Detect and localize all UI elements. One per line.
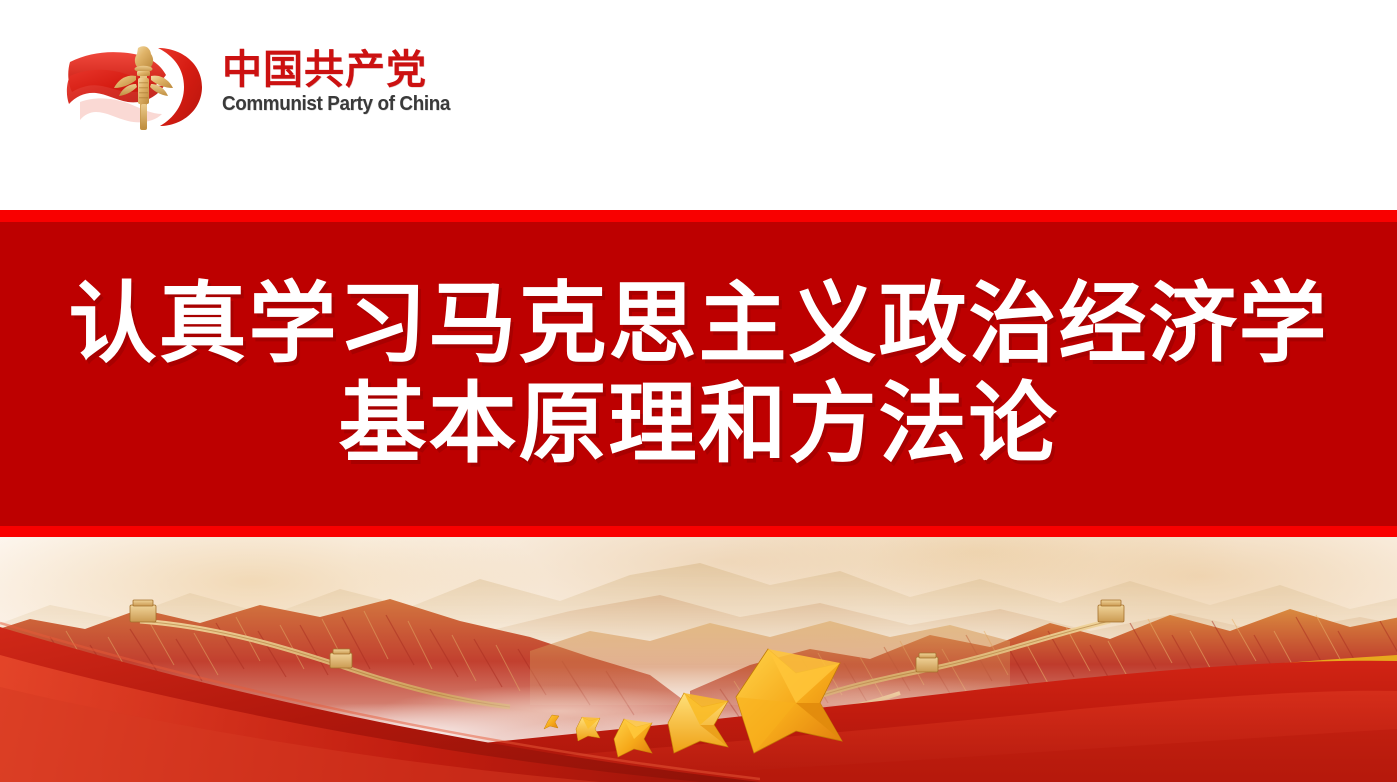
star-1-large: [736, 649, 842, 753]
star-4: [576, 717, 600, 741]
star-2: [668, 693, 728, 753]
presentation-slide: 中国共产党 Communist Party of China 认真学习马克思主义…: [0, 0, 1397, 782]
cpc-logo-wordmark: 中国共产党 Communist Party of China: [222, 50, 434, 115]
slide-header: 中国共产党 Communist Party of China: [0, 0, 1397, 210]
cpc-logo-chinese-name: 中国共产党: [222, 50, 434, 90]
slide-title-line-2: 基本原理和方法论: [338, 374, 1058, 474]
cpc-logo-english-name: Communist Party of China: [222, 94, 417, 115]
star-5-small: [544, 715, 559, 729]
title-banner: 认真学习马克思主义政治经济学 基本原理和方法论: [0, 210, 1397, 537]
banner-bottom-stripe: [0, 526, 1397, 537]
cpc-logo: 中国共产党 Communist Party of China: [62, 34, 422, 139]
five-gold-stars-group: [540, 645, 880, 775]
banner-top-stripe: [0, 210, 1397, 222]
title-block: 认真学习马克思主义政治经济学 基本原理和方法论: [0, 222, 1397, 526]
cpc-flag-torch-icon: [62, 42, 212, 134]
great-wall-landscape-scene: [0, 537, 1397, 782]
star-3: [614, 719, 652, 757]
slide-title-line-1: 认真学习马克思主义政治经济学: [68, 274, 1328, 374]
